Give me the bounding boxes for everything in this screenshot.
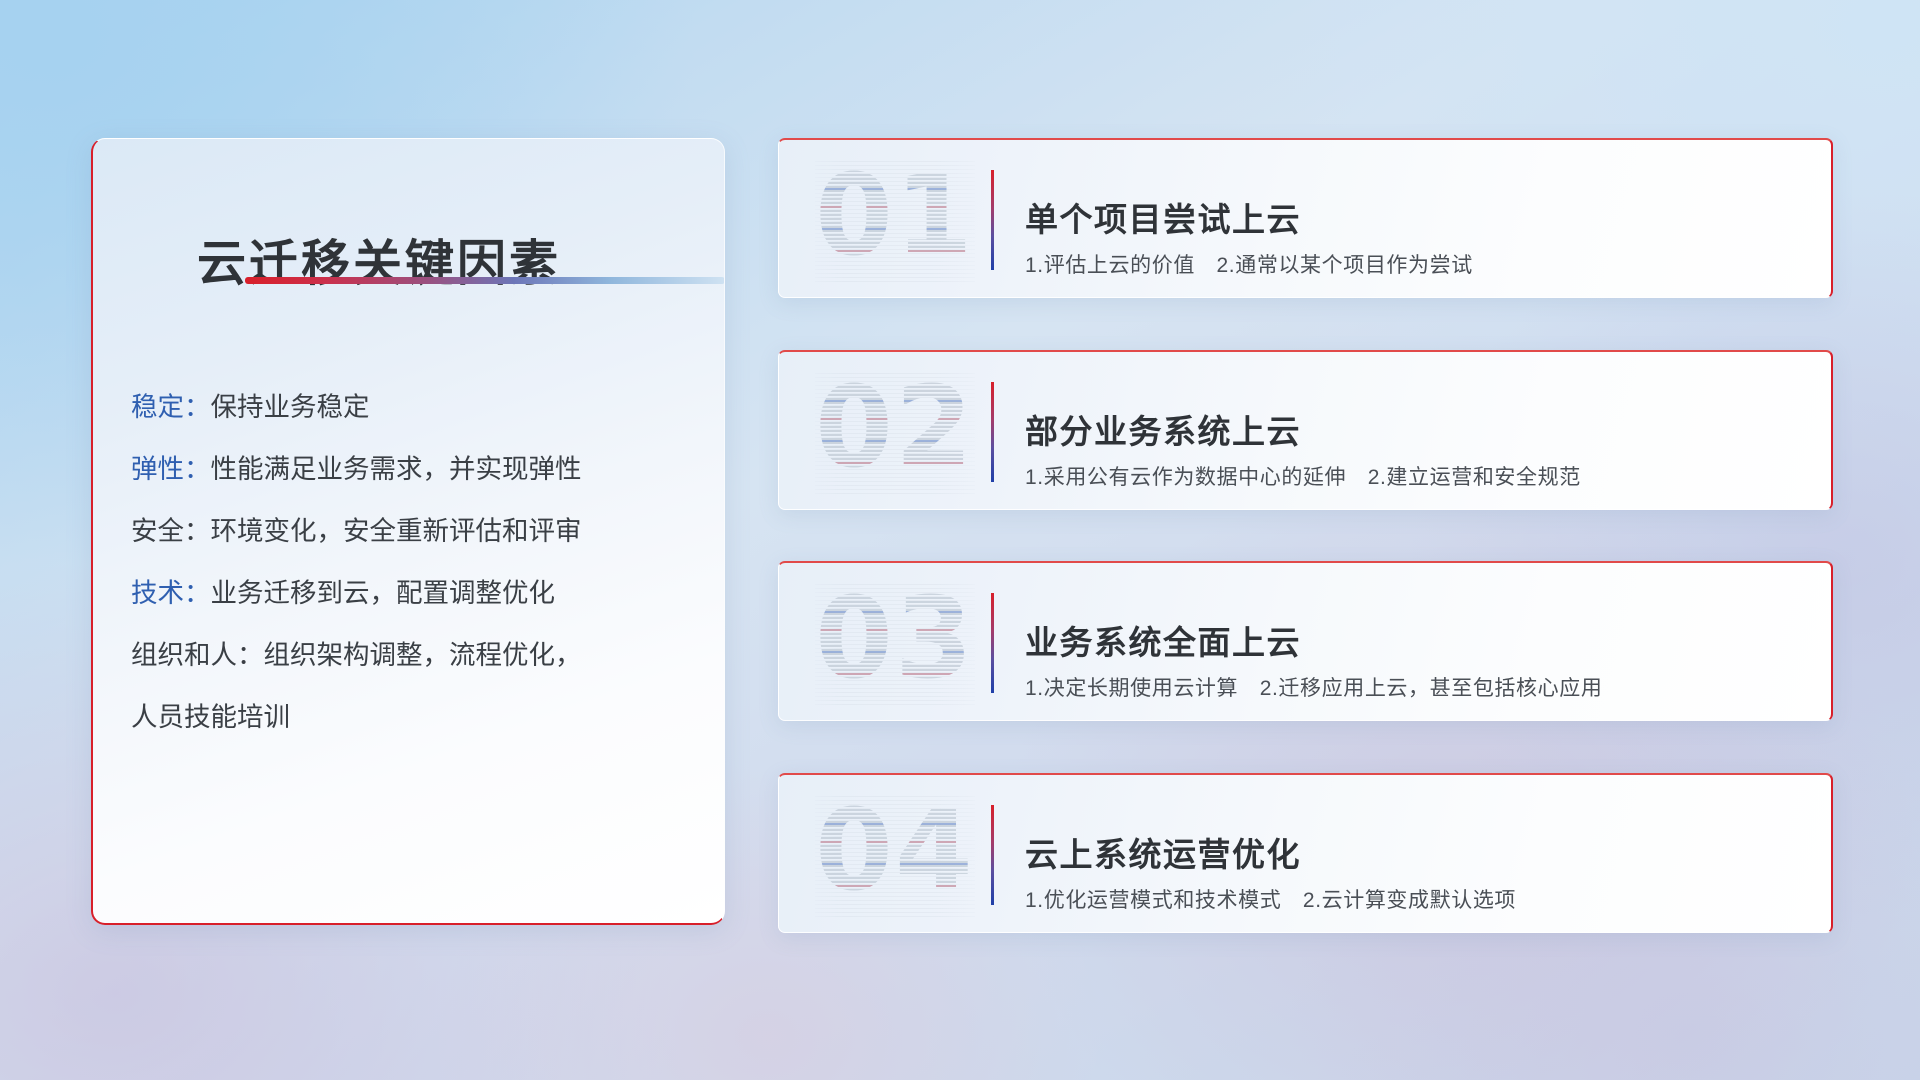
- card-accent-divider: [991, 382, 994, 482]
- stage-number-glyph-blue-scanlines: 04: [815, 793, 975, 913]
- factor-row: 弹性： 性能满足业务需求，并实现弹性: [131, 438, 710, 500]
- stage-number-glyph-blue-scanlines: 02: [815, 370, 975, 490]
- stage-number-01: 01 01 01: [815, 158, 975, 282]
- stage-number-03: 03 03 03: [815, 581, 975, 705]
- factor-value: 组织架构调整，流程优化，: [264, 642, 582, 669]
- factor-value: 业务迁移到云，配置调整优化: [211, 580, 556, 607]
- stage-number-04: 04 04 04: [815, 793, 975, 917]
- factor-key: 稳定：: [131, 394, 211, 421]
- stage-title: 单个项目尝试上云: [1025, 193, 1301, 241]
- factor-key: 安全：: [131, 518, 211, 545]
- factor-value: 保持业务稳定: [211, 394, 370, 421]
- factor-key: 组织和人：: [131, 642, 264, 669]
- factor-value: 性能满足业务需求，并实现弹性: [211, 456, 582, 483]
- factor-row: 人员技能培训: [131, 686, 710, 748]
- card-accent-divider: [991, 170, 994, 270]
- stage-subtitle: 1.评估上云的价值 2.通常以某个项目作为尝试: [1025, 249, 1473, 279]
- factor-value: 环境变化，安全重新评估和评审: [211, 518, 582, 545]
- factor-row: 组织和人： 组织架构调整，流程优化，: [131, 624, 710, 686]
- stage-title: 云上系统运营优化: [1025, 828, 1301, 876]
- factor-value: 人员技能培训: [131, 704, 290, 731]
- factor-row: 安全： 环境变化，安全重新评估和评审: [131, 500, 710, 562]
- card-accent-divider: [991, 805, 994, 905]
- stage-subtitle: 1.采用公有云作为数据中心的延伸 2.建立运营和安全规范: [1025, 461, 1581, 491]
- factor-row: 稳定： 保持业务稳定: [131, 376, 710, 438]
- stage-number-02: 02 02 02: [815, 370, 975, 494]
- factor-row: 技术： 业务迁移到云，配置调整优化: [131, 562, 710, 624]
- key-factors-panel: 云迁移关键因素 稳定： 保持业务稳定 弹性： 性能满足业务需求，并实现弹性 安全…: [91, 138, 725, 925]
- title-underline-rule: [245, 277, 725, 284]
- stage-card-04[interactable]: 04 04 04 云上系统运营优化 1.优化运营模式和技术模式 2.云计算变成默…: [778, 773, 1833, 933]
- stage-card-03[interactable]: 03 03 03 业务系统全面上云 1.决定长期使用云计算 2.迁移应用上云，甚…: [778, 561, 1833, 721]
- stage-subtitle: 1.优化运营模式和技术模式 2.云计算变成默认选项: [1025, 884, 1516, 914]
- card-accent-divider: [991, 593, 994, 693]
- factor-key: 弹性：: [131, 456, 211, 483]
- page-title: 云迁移关键因素: [197, 224, 561, 295]
- stage-card-01[interactable]: 01 01 01 单个项目尝试上云 1.评估上云的价值 2.通常以某个项目作为尝…: [778, 138, 1833, 298]
- stage-subtitle: 1.决定长期使用云计算 2.迁移应用上云，甚至包括核心应用: [1025, 672, 1602, 702]
- stage-card-02[interactable]: 02 02 02 部分业务系统上云 1.采用公有云作为数据中心的延伸 2.建立运…: [778, 350, 1833, 510]
- factor-list: 稳定： 保持业务稳定 弹性： 性能满足业务需求，并实现弹性 安全： 环境变化，安…: [131, 376, 710, 748]
- stage-title: 部分业务系统上云: [1025, 405, 1301, 453]
- slide-root: 云迁移关键因素 稳定： 保持业务稳定 弹性： 性能满足业务需求，并实现弹性 安全…: [0, 0, 1920, 1080]
- stage-title: 业务系统全面上云: [1025, 616, 1301, 664]
- stage-number-glyph-blue-scanlines: 03: [815, 581, 975, 701]
- factor-key: 技术：: [131, 580, 211, 607]
- stage-number-glyph-blue-scanlines: 01: [815, 158, 975, 278]
